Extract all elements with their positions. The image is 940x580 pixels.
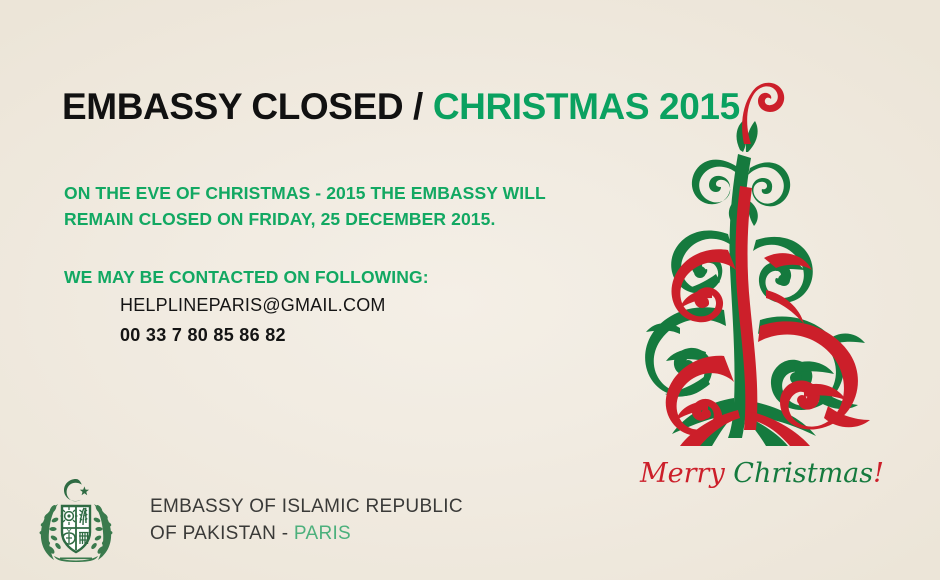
- footer-text: EMBASSY OF ISLAMIC REPUBLIC OF PAKISTAN …: [150, 493, 463, 547]
- pakistan-state-emblem-icon: [36, 476, 116, 564]
- headline-separator: /: [403, 86, 433, 127]
- greeting-exclamation: !: [873, 458, 884, 489]
- footer-country: OF PAKISTAN: [150, 523, 282, 544]
- contact-block: WE MAY BE CONTACTED ON FOLLOWING: HELPLI…: [64, 264, 546, 350]
- greeting-word-christmas: Christmas: [733, 458, 873, 489]
- christmas-closure-notice-card: EMBASSY CLOSED / CHRISTMAS 2015 ON THE E…: [0, 0, 940, 580]
- footer-line-2: OF PAKISTAN - PARIS: [150, 520, 463, 547]
- notice-body: ON THE EVE OF CHRISTMAS - 2015 THE EMBAS…: [64, 180, 546, 350]
- footer: EMBASSY OF ISLAMIC REPUBLIC OF PAKISTAN …: [36, 476, 463, 564]
- ornamental-christmas-tree: [588, 58, 908, 448]
- contact-phone[interactable]: 00 33 7 80 85 86 82: [120, 320, 546, 350]
- greeting-word-merry: Merry: [640, 458, 733, 489]
- footer-line-1: EMBASSY OF ISLAMIC REPUBLIC: [150, 493, 463, 520]
- merry-christmas-greeting: Merry Christmas!: [640, 458, 870, 489]
- contact-heading: WE MAY BE CONTACTED ON FOLLOWING:: [64, 264, 546, 290]
- footer-dash: -: [282, 523, 294, 544]
- headline-part-1: EMBASSY CLOSED: [62, 86, 403, 127]
- contact-email[interactable]: HELPLINEPARIS@GMAIL.COM: [120, 290, 546, 320]
- footer-city: PARIS: [294, 523, 351, 544]
- notice-line-1: ON THE EVE OF CHRISTMAS - 2015 THE EMBAS…: [64, 180, 546, 206]
- notice-line-2: REMAIN CLOSED ON FRIDAY, 25 DECEMBER 201…: [64, 206, 546, 232]
